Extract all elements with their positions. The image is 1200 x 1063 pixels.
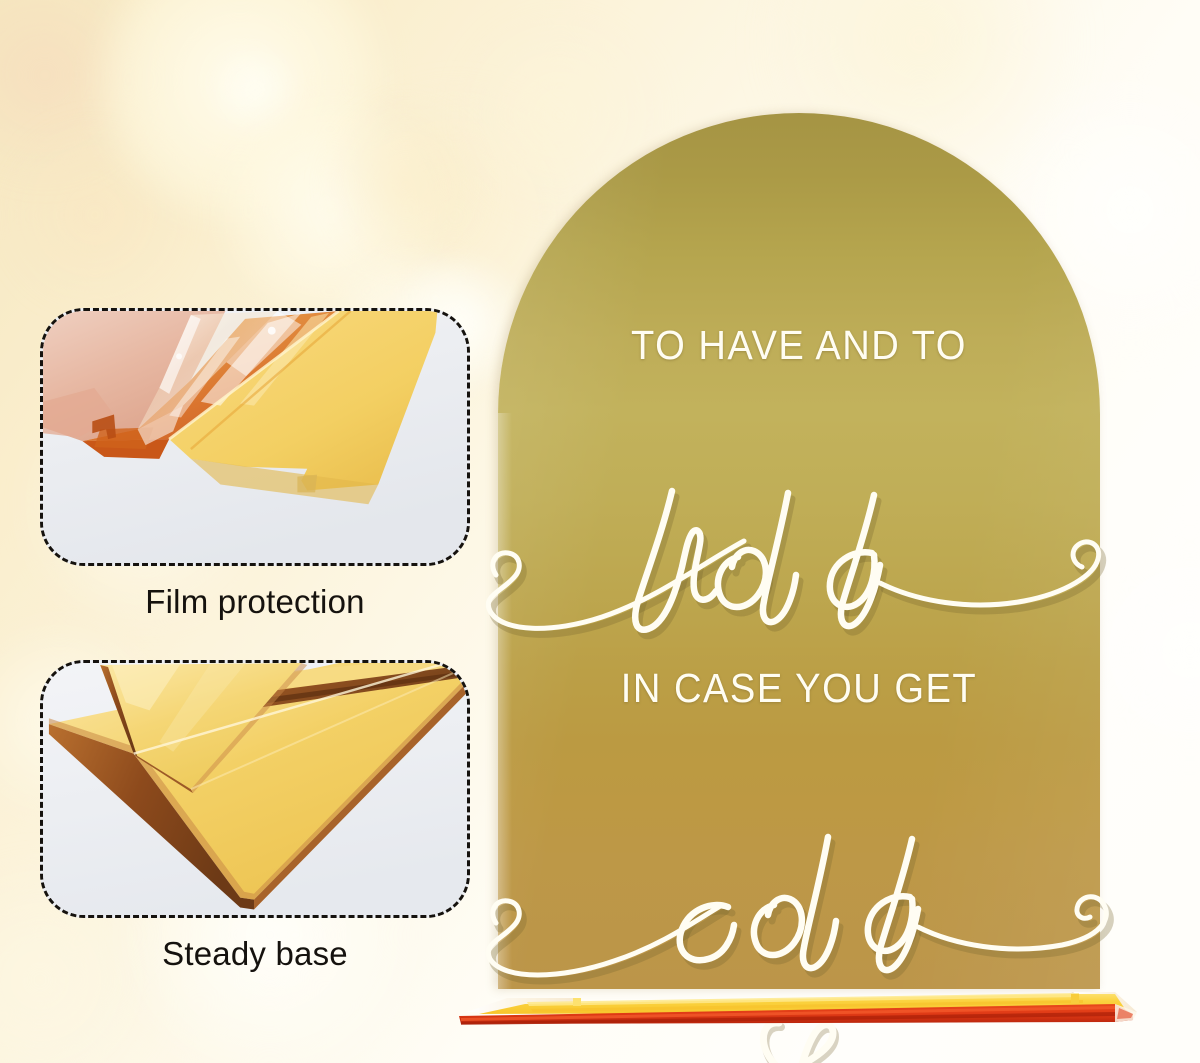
feature-card-steady-base: Steady base [40, 660, 470, 980]
feature-card-film-protection: Film protection [40, 308, 470, 628]
product-image-canvas: Film protection [0, 0, 1200, 1063]
film-protection-photo [43, 311, 467, 565]
sign-script-cold [476, 823, 1122, 988]
feature-photo-frame [40, 308, 470, 566]
arch-sign: TO HAVE AND TO [498, 113, 1100, 989]
sign-script-hold [476, 483, 1122, 648]
feature-caption-film-protection: Film protection [40, 583, 470, 621]
steady-base-photo [43, 663, 467, 917]
acrylic-base-stand [455, 982, 1145, 1030]
feature-photo-frame [40, 660, 470, 918]
sign-headline-line2: IN CASE YOU GET [519, 665, 1079, 712]
sign-headline-line1: TO HAVE AND TO [519, 322, 1079, 369]
feature-caption-steady-base: Steady base [40, 935, 470, 973]
